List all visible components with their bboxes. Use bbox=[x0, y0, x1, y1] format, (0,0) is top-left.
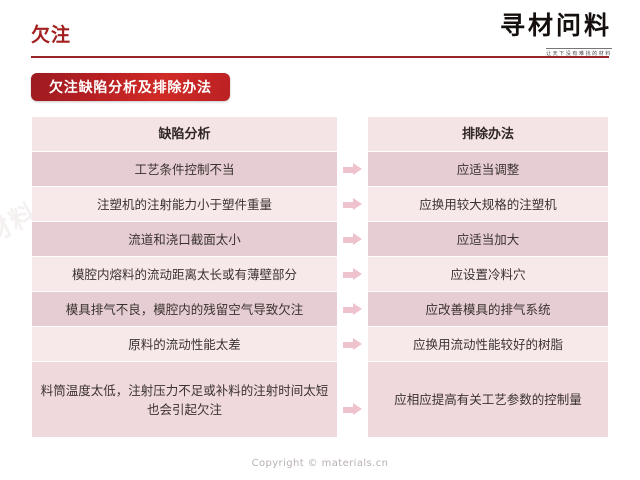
cause-column: 缺陷分析 工艺条件控制不当 注塑机的注射能力小于塑件重量 流道和浇口截面太小 模… bbox=[32, 117, 337, 447]
footer-copyright: Copyright © materials.cn bbox=[0, 458, 640, 469]
table-row: 应适当加大 bbox=[368, 222, 608, 257]
right-arrow-icon bbox=[343, 163, 362, 176]
right-arrow-icon bbox=[343, 198, 362, 211]
table-row: 流道和浇口截面太小 bbox=[32, 222, 337, 257]
page-title: 欠注 bbox=[31, 26, 71, 45]
right-arrow-icon bbox=[343, 338, 362, 351]
right-arrow-icon bbox=[343, 233, 362, 246]
table-row: 应换用流动性能较好的树脂 bbox=[368, 327, 608, 362]
brand-logo-mark: 寻材问料 bbox=[492, 12, 612, 40]
arrow-column bbox=[337, 117, 368, 447]
table-row: 工艺条件控制不当 bbox=[32, 152, 337, 187]
table-row: 注塑机的注射能力小于塑件重量 bbox=[32, 187, 337, 222]
table-row: 应换用较大规格的注塑机 bbox=[368, 187, 608, 222]
section-badge: 欠注缺陷分析及排除办法 bbox=[31, 73, 230, 101]
slide-root: 材料 欠注 寻材问料 让天下没有难找的材料 欠注缺陷分析及排除办法 缺陷分析 工… bbox=[0, 0, 640, 480]
defect-remedy-table: 缺陷分析 工艺条件控制不当 注塑机的注射能力小于塑件重量 流道和浇口截面太小 模… bbox=[32, 117, 608, 447]
right-arrow-icon bbox=[343, 303, 362, 316]
right-arrow-icon bbox=[343, 268, 362, 281]
remedy-column: 排除办法 应适当调整 应换用较大规格的注塑机 应适当加大 应设置冷料穴 应改善模… bbox=[368, 117, 608, 447]
table-row: 原料的流动性能太差 bbox=[32, 327, 337, 362]
table-row: 应设置冷料穴 bbox=[368, 257, 608, 292]
brand-logo-subtitle: 让天下没有难找的材料 bbox=[546, 48, 612, 58]
brand-logo: 寻材问料 让天下没有难找的材料 bbox=[492, 12, 612, 56]
right-arrow-icon bbox=[343, 403, 362, 416]
remedy-column-header: 排除办法 bbox=[368, 117, 608, 152]
cause-column-header: 缺陷分析 bbox=[32, 117, 337, 152]
table-row: 应改善模具的排气系统 bbox=[368, 292, 608, 327]
slide-header: 欠注 寻材问料 让天下没有难找的材料 bbox=[0, 0, 640, 62]
table-row: 料筒温度太低，注射压力不足或补料的注射时间太短也会引起欠注 bbox=[32, 362, 337, 438]
table-row: 应相应提高有关工艺参数的控制量 bbox=[368, 362, 608, 438]
table-row: 模具排气不良，模腔内的残留空气导致欠注 bbox=[32, 292, 337, 327]
table-row: 模腔内熔料的流动距离太长或有薄壁部分 bbox=[32, 257, 337, 292]
table-row: 应适当调整 bbox=[368, 152, 608, 187]
